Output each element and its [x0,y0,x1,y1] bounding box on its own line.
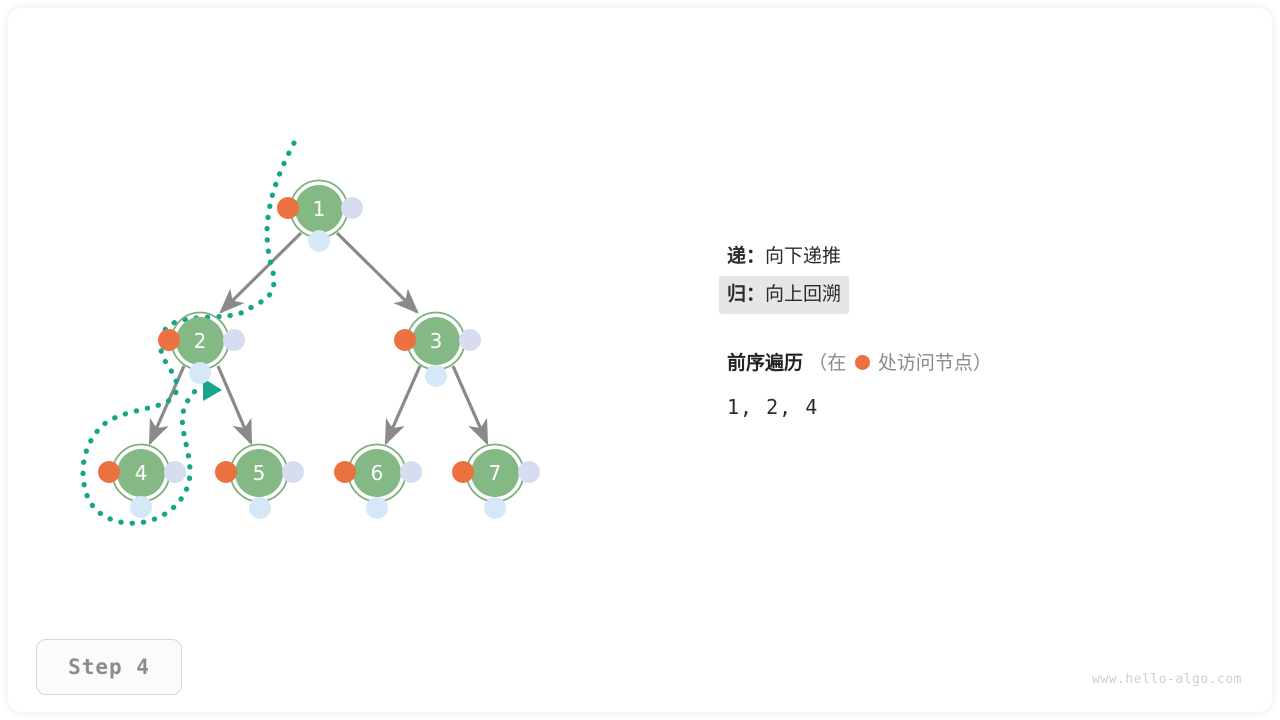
node-6-right-dot [400,461,422,483]
edge-1-3 [337,233,417,312]
diagram-canvas: 1 2 3 4 [0,0,1280,720]
node-1-visit-dot [277,197,299,219]
node-2-visit-dot [158,329,180,351]
node-6-visit-dot [334,461,356,483]
node-4-bottom-dot [130,496,152,518]
node-5-bottom-dot [249,497,271,519]
node-4-right-dot [164,461,186,483]
node-6-bottom-dot [366,497,388,519]
traversal-note-close: 处访问节点） [878,353,992,374]
legend-recurse-row: 递：向下递推 [727,238,1157,276]
tree-node-1[interactable]: 1 [277,181,363,253]
node-6-label: 6 [371,461,384,485]
visit-marker-icon [855,355,870,370]
node-5-visit-dot [215,461,237,483]
node-2-bottom-dot [189,362,211,384]
traversal-title: 前序遍历 [727,353,803,374]
node-3-right-dot [459,329,481,351]
node-3-bottom-dot [425,365,447,387]
node-1-bottom-dot [308,230,330,252]
node-7-right-dot [518,461,540,483]
tree-node-5[interactable]: 5 [215,445,304,520]
node-4-label: 4 [135,461,148,485]
node-2-right-dot [223,329,245,351]
edge-2-5 [218,366,251,443]
node-2-label: 2 [194,329,207,353]
traversal-title-row: 前序遍历 （在 处访问节点） [727,348,1157,375]
node-4-visit-dot [98,461,120,483]
tree-node-7[interactable]: 7 [452,445,540,520]
legend-return-row: 归：向上回溯 [719,276,849,314]
node-7-visit-dot [452,461,474,483]
legend-return-key: 归： [727,284,765,305]
edge-2-4 [150,366,184,443]
legend-spacer [727,314,1157,348]
legend-panel: 递：向下递推 归：向上回溯 前序遍历 （在 处访问节点） 1, 2, 4 [727,238,1157,419]
edge-3-6 [386,366,420,443]
node-1-right-dot [341,197,363,219]
step-badge: Step 4 [36,639,182,695]
edge-3-7 [453,366,487,443]
traversal-output: 1, 2, 4 [727,395,1157,419]
legend-recurse-text: 向下递推 [765,246,841,267]
footer-url: www.hello-algo.com [1092,672,1242,687]
node-3-label: 3 [430,329,443,353]
legend-return-text: 向上回溯 [765,284,841,305]
legend-recurse-key: 递： [727,246,765,267]
tree-node-3[interactable]: 3 [394,313,481,388]
step-badge-label: Step 4 [68,655,150,679]
node-5-label: 5 [253,461,266,485]
node-5-right-dot [282,461,304,483]
tree-node-6[interactable]: 6 [334,445,422,520]
traversal-note-open: （在 [808,353,846,374]
node-3-visit-dot [394,329,416,351]
node-7-label: 7 [489,461,502,485]
node-7-bottom-dot [484,497,506,519]
node-1-label: 1 [313,197,326,221]
